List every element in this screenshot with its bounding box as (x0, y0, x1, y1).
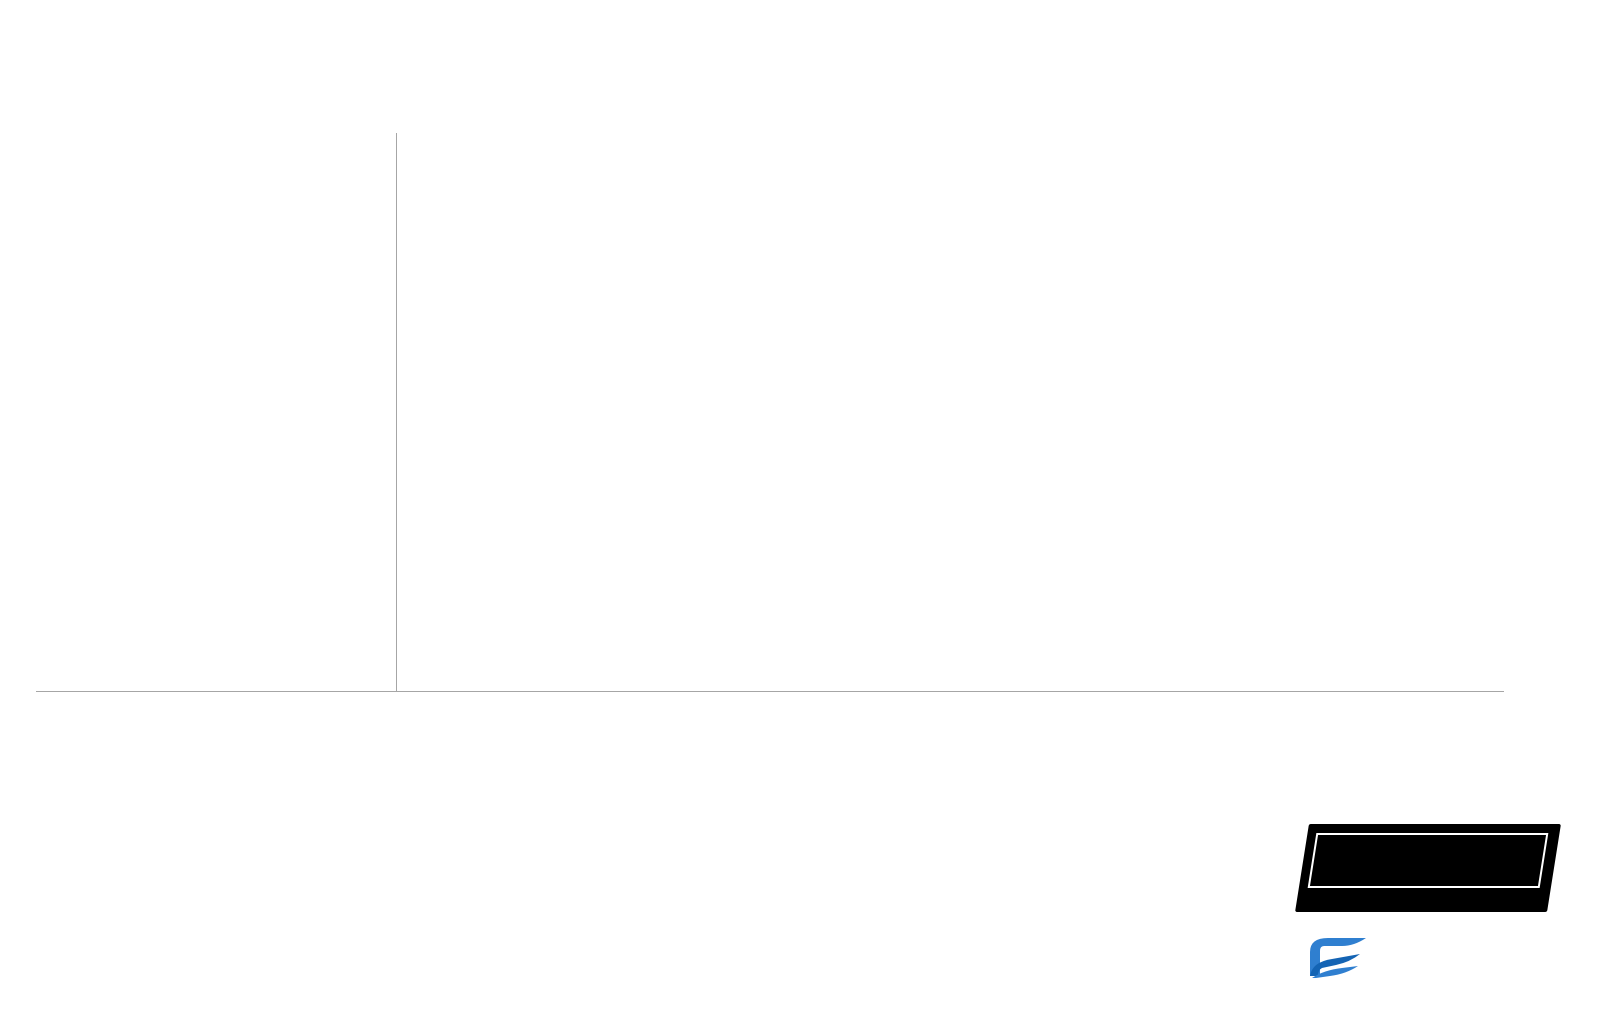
superflow-logo (1302, 930, 1558, 986)
do88-logo-outline (1308, 833, 1549, 888)
plot-area (398, 133, 1504, 691)
do88-logo (1302, 824, 1554, 912)
superflow-wave-icon (1302, 932, 1372, 982)
series-lines (398, 133, 1504, 691)
y-axis-line (396, 133, 397, 692)
y-axis-ticks (330, 133, 390, 691)
x-axis-ticks (398, 692, 1504, 718)
